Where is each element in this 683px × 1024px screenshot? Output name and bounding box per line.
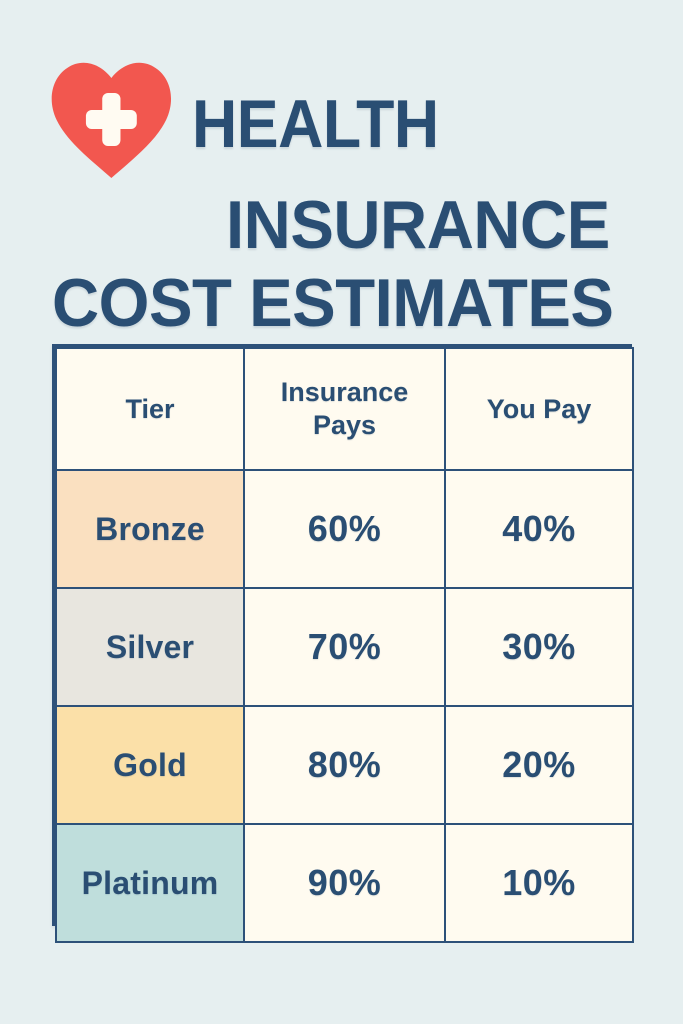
table-row: Gold80%20% [56, 706, 633, 824]
title-line-1-row: HEALTH [48, 62, 631, 186]
column-header-insurance-pays: Insurance Pays [244, 348, 445, 470]
column-header-tier: Tier [56, 348, 244, 470]
column-header-you-pay: You Pay [445, 348, 633, 470]
you-pay-cell: 40% [445, 470, 633, 588]
table-header-row: Tier Insurance Pays You Pay [56, 348, 633, 470]
insurance-pays-cell: 70% [244, 588, 445, 706]
insurance-pays-cell: 60% [244, 470, 445, 588]
tier-name-cell: Silver [56, 588, 244, 706]
tier-cost-table: Tier Insurance Pays You Pay Bronze60%40%… [55, 347, 634, 943]
cost-estimates-table: Tier Insurance Pays You Pay Bronze60%40%… [52, 344, 632, 926]
heart-plus-icon [48, 58, 175, 182]
tier-name-cell: Platinum [56, 824, 244, 942]
table-header: Tier Insurance Pays You Pay [56, 348, 633, 470]
you-pay-cell: 20% [445, 706, 633, 824]
table-row: Bronze60%40% [56, 470, 633, 588]
tier-name-cell: Gold [56, 706, 244, 824]
insurance-pays-cell: 90% [244, 824, 445, 942]
table-body: Bronze60%40%Silver70%30%Gold80%20%Platin… [56, 470, 633, 942]
title-line-1: HEALTH [192, 85, 439, 163]
poster-canvas: HEALTH INSURANCE COST ESTIMATES Tier Ins… [0, 0, 683, 1024]
title-line-2: INSURANCE [226, 186, 638, 264]
title-block: HEALTH INSURANCE COST ESTIMATES [0, 62, 683, 342]
you-pay-cell: 30% [445, 588, 633, 706]
you-pay-cell: 10% [445, 824, 633, 942]
tier-name-cell: Bronze [56, 470, 244, 588]
table-row: Platinum90%10% [56, 824, 633, 942]
insurance-pays-cell: 80% [244, 706, 445, 824]
title-line-3: COST ESTIMATES [52, 264, 631, 342]
table-row: Silver70%30% [56, 588, 633, 706]
